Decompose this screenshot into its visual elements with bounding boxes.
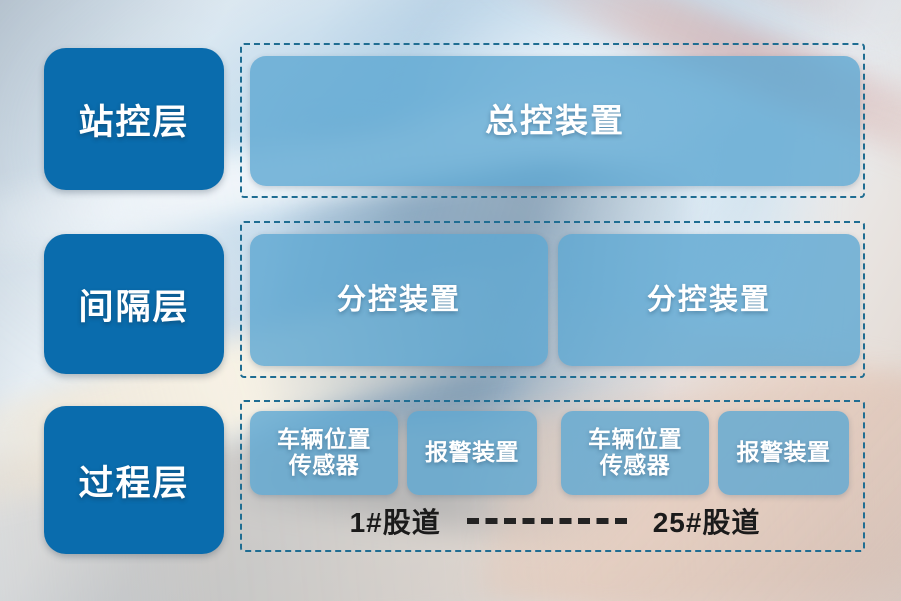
layer-label-bay: 间隔层 [44,234,224,374]
device-box-alarm-device-2: 报警装置 [718,411,849,495]
device-label-alarm-device-2: 报警装置 [737,440,831,466]
device-label-vehicle-position-sensor-2: 车辆位置 传感器 [588,427,682,479]
device-box-sub-controller-2: 分控装置 [558,234,860,366]
layer-label-station-text: 站控层 [78,94,189,145]
device-box-master-controller: 总控装置 [250,56,860,186]
track-label-last: 25#股道 [653,501,761,541]
layer-label-process-text: 过程层 [78,455,189,506]
device-box-vehicle-position-sensor-1: 车辆位置 传感器 [250,411,398,495]
layer-label-process: 过程层 [44,406,224,554]
layered-architecture-diagram: 站控层 总控装置 间隔层 分控装置 分控装置 过程层 车辆位置 传感器 报警装置… [0,0,901,601]
layer-label-bay-text: 间隔层 [78,279,189,330]
device-box-sub-controller-1: 分控装置 [250,234,548,366]
device-label-sub-controller-1: 分控装置 [337,284,461,316]
track-continuation-dashed-line [467,518,627,524]
device-label-vehicle-position-sensor-1: 车辆位置 传感器 [277,427,371,479]
device-label-sub-controller-2: 分控装置 [647,284,771,316]
diagram-canvas: 站控层 总控装置 间隔层 分控装置 分控装置 过程层 车辆位置 传感器 报警装置… [0,0,901,601]
layer-label-station: 站控层 [44,48,224,190]
device-label-master-controller: 总控装置 [485,103,625,140]
device-box-vehicle-position-sensor-2: 车辆位置 传感器 [561,411,709,495]
device-box-alarm-device-1: 报警装置 [407,411,537,495]
device-label-alarm-device-1: 报警装置 [425,440,519,466]
track-label-first: 1#股道 [350,501,441,541]
track-row: 1#股道 25#股道 [250,500,860,542]
